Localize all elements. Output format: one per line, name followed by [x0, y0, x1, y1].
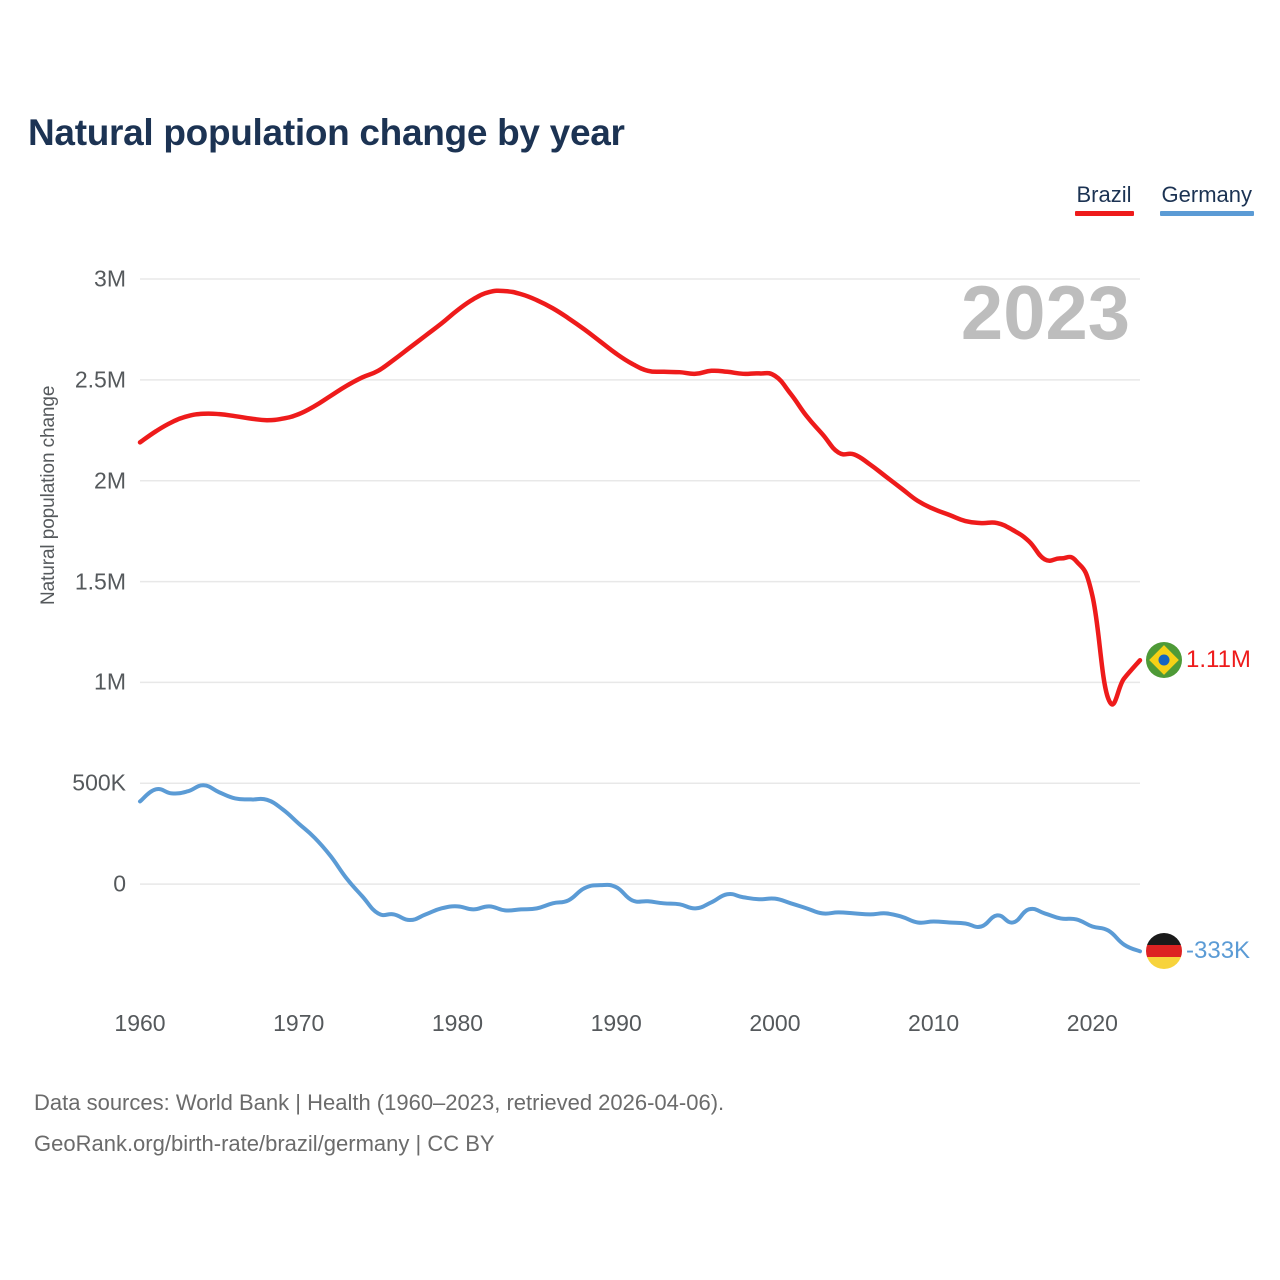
- germany-end-value: -333K: [1186, 937, 1250, 965]
- series-line-brazil[interactable]: [140, 291, 1140, 705]
- footer-attribution: GeoRank.org/birth-rate/brazil/germany | …: [34, 1123, 724, 1164]
- germany-flag-icon: [1146, 933, 1182, 969]
- brazil-end-value: 1.11M: [1186, 646, 1251, 674]
- x-tick-label: 1980: [432, 1010, 483, 1037]
- footer: Data sources: World Bank | Health (1960–…: [34, 1082, 724, 1164]
- brazil-flag-icon: [1146, 642, 1182, 678]
- x-tick-label: 2010: [908, 1010, 959, 1037]
- y-tick-label: 500K: [72, 770, 126, 797]
- series-lines: [140, 291, 1140, 952]
- y-tick-label: 1M: [94, 669, 126, 696]
- y-tick-label: 0: [113, 871, 126, 898]
- y-tick-label: 1.5M: [75, 568, 126, 595]
- y-tick-label: 2.5M: [75, 366, 126, 393]
- footer-data-sources: Data sources: World Bank | Health (1960–…: [34, 1082, 724, 1123]
- x-tick-label: 1970: [273, 1010, 324, 1037]
- x-tick-label: 2020: [1067, 1010, 1118, 1037]
- y-tick-label: 3M: [94, 266, 126, 293]
- x-tick-label: 2000: [749, 1010, 800, 1037]
- y-tick-label: 2M: [94, 467, 126, 494]
- x-tick-label: 1960: [114, 1010, 165, 1037]
- series-line-germany[interactable]: [140, 785, 1140, 951]
- x-tick-label: 1990: [591, 1010, 642, 1037]
- chart-page: Natural population change by year Brazil…: [0, 0, 1280, 1280]
